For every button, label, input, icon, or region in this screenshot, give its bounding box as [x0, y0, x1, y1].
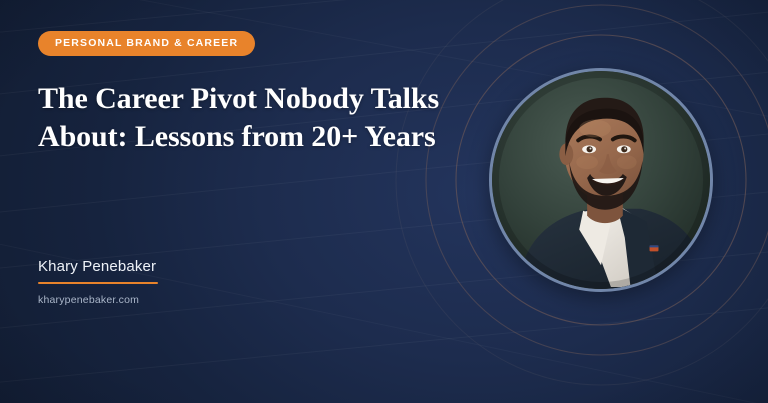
portrait-ring-frame: Smiling man with short beard wearing a n…: [489, 68, 713, 292]
portrait-photo: Smiling man with short beard wearing a n…: [492, 71, 710, 289]
byline: Khary Penebaker kharypenebaker.com: [38, 258, 158, 307]
text-column: PERSONAL BRAND & CAREER The Career Pivot…: [38, 0, 458, 403]
social-banner-card: Smiling man with short beard wearing a n…: [0, 0, 768, 403]
author-portrait: Smiling man with short beard wearing a n…: [489, 68, 713, 292]
category-badge[interactable]: PERSONAL BRAND & CAREER: [38, 31, 255, 56]
author-website[interactable]: kharypenebaker.com: [38, 294, 158, 307]
page-title: The Career Pivot Nobody Talks About: Les…: [38, 80, 458, 156]
author-name: Khary Penebaker: [38, 258, 158, 282]
author-underline-rule: [38, 282, 158, 284]
